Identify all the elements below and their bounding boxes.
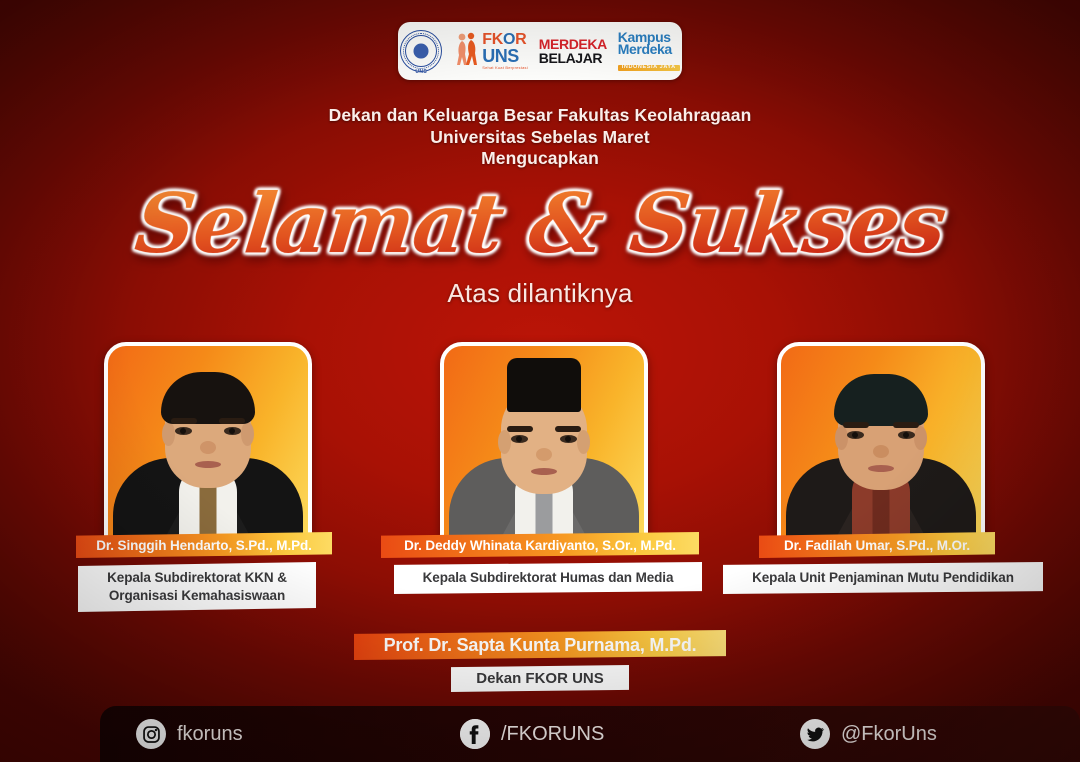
- merdeka-belajar-logo: MERDEKA BELAJAR: [539, 37, 607, 65]
- portrait-hair: [161, 372, 255, 424]
- portrait-eye-left: [175, 427, 192, 435]
- intro-line-1: Dekan dan Keluarga Besar Fakultas Keolah…: [0, 105, 1080, 127]
- portrait-photo: [108, 346, 308, 536]
- portrait-photo: [781, 346, 981, 536]
- portrait-eye-left: [511, 435, 528, 443]
- merdeka-label-2: Merdeka: [618, 42, 680, 56]
- headline-wrapper: Selamat & Sukses: [0, 176, 1080, 276]
- portrait-brow-right: [893, 422, 919, 428]
- facebook-icon: [460, 719, 490, 749]
- portrait-eye-right: [560, 435, 577, 443]
- intro-line-3: Mengucapkan: [0, 148, 1080, 170]
- merdeka-label: MERDEKA: [539, 37, 607, 51]
- portrait-brow-right: [555, 426, 581, 432]
- kampus-merdeka-logo: Kampus Merdeka INDONESIA JAYA: [618, 30, 680, 72]
- social-facebook[interactable]: /FKORUNS: [460, 719, 604, 749]
- belajar-label: BELAJAR: [539, 51, 607, 65]
- fkor-wordmark: FKOR UNS Sehat Kuat Berprestasi: [482, 32, 528, 70]
- portrait-mouth: [195, 461, 221, 468]
- uns-seal-label: UNS: [400, 69, 442, 75]
- indonesia-jaya-ribbon: INDONESIA JAYA: [618, 65, 680, 71]
- portrait-peci-cap: [507, 358, 581, 412]
- person-role-plate: Kepala Subdirektorat KKN & Organisasi Ke…: [78, 562, 316, 612]
- portrait-photo: [444, 346, 644, 536]
- person-name: Dr. Fadilah Umar, S.Pd., M.Or.: [784, 538, 970, 553]
- portrait-nose: [536, 448, 552, 461]
- portrait-ear-right: [914, 426, 927, 450]
- person-name: Dr. Singgih Hendarto, S.Pd., M.Pd.: [96, 538, 312, 553]
- portrait-brow-left: [507, 426, 533, 432]
- fkor-line-2: UNS: [482, 47, 528, 65]
- uns-seal-logo: UNS: [400, 30, 442, 72]
- portrait-hair: [834, 374, 928, 426]
- person-card: Dr. Singgih Hendarto, S.Pd., M.Pd. Kepal…: [104, 342, 332, 612]
- instagram-icon: [136, 719, 166, 749]
- intro-line-2: Universitas Sebelas Maret: [0, 127, 1080, 149]
- portrait-ear-left: [162, 422, 175, 446]
- person-role-line-1: Kepala Subdirektorat Humas dan Media: [404, 569, 692, 587]
- portrait-nose: [873, 445, 889, 458]
- photo-frame: [440, 342, 648, 540]
- person-role-line-1: Kepala Subdirektorat KKN &: [88, 569, 306, 587]
- social-twitter[interactable]: @FkorUns: [800, 719, 937, 749]
- poster-canvas: UNS FKOR UNS Sehat Kuat Berprestasi MERD…: [0, 0, 1080, 762]
- person-card: Dr. Fadilah Umar, S.Pd., M.Or. Kepala Un…: [777, 342, 1043, 594]
- person-role-line-2: Organisasi Kemahasiswaan: [88, 587, 306, 605]
- logo-bar: UNS FKOR UNS Sehat Kuat Berprestasi MERD…: [398, 22, 682, 80]
- photo-frame: [104, 342, 312, 540]
- twitter-icon: [800, 719, 830, 749]
- dean-role-plate: Dekan FKOR UNS: [451, 665, 629, 692]
- photo-frame: [777, 342, 985, 540]
- person-role-plate: Kepala Subdirektorat Humas dan Media: [394, 562, 702, 594]
- portrait-ear-left: [835, 426, 848, 450]
- social-footer-bar: fkoruns /FKORUNS @FkorUns: [100, 706, 1080, 762]
- portrait-ear-right: [577, 430, 590, 454]
- person-role-plate: Kepala Unit Penjaminan Mutu Pendidikan: [723, 562, 1043, 594]
- instagram-handle: fkoruns: [177, 723, 243, 746]
- uns-emblem-icon: [414, 44, 429, 59]
- portrait-eye-right: [898, 431, 915, 439]
- facebook-handle: /FKORUNS: [501, 723, 604, 746]
- runners-icon: [453, 31, 479, 71]
- portrait-nose: [200, 441, 216, 454]
- portrait-mouth: [868, 465, 894, 472]
- portrait-brow-right: [219, 418, 245, 424]
- dean-name-plate: Prof. Dr. Sapta Kunta Purnama, M.Pd.: [354, 630, 726, 660]
- portrait-brow-left: [843, 422, 869, 428]
- social-instagram[interactable]: fkoruns: [136, 719, 243, 749]
- person-name-plate: Dr. Deddy Whinata Kardiyanto, S.Or., M.P…: [381, 532, 699, 558]
- person-name: Dr. Deddy Whinata Kardiyanto, S.Or., M.P…: [404, 538, 676, 553]
- portrait-mouth: [531, 468, 557, 475]
- headline-selamat-sukses: Selamat & Sukses: [131, 176, 950, 272]
- person-name-plate: Dr. Singgih Hendarto, S.Pd., M.Pd.: [76, 532, 332, 558]
- fkor-uns-logo: FKOR UNS Sehat Kuat Berprestasi: [453, 31, 528, 71]
- portrait-eye-right: [224, 427, 241, 435]
- intro-text: Dekan dan Keluarga Besar Fakultas Keolah…: [0, 105, 1080, 170]
- portrait-brow-left: [171, 418, 197, 424]
- person-card: Dr. Deddy Whinata Kardiyanto, S.Or., M.P…: [440, 342, 702, 594]
- person-role-line-1: Kepala Unit Penjaminan Mutu Pendidikan: [733, 569, 1033, 587]
- portrait-ear-right: [241, 422, 254, 446]
- portrait-ear-left: [498, 430, 511, 454]
- person-name-plate: Dr. Fadilah Umar, S.Pd., M.Or.: [759, 532, 995, 558]
- dean-block: Prof. Dr. Sapta Kunta Purnama, M.Pd. Dek…: [0, 630, 1080, 692]
- fkor-tagline: Sehat Kuat Berprestasi: [482, 66, 528, 70]
- twitter-handle: @FkorUns: [841, 723, 937, 746]
- portrait-eye-left: [847, 431, 864, 439]
- subheadline-atas-dilantiknya: Atas dilantiknya: [0, 278, 1080, 309]
